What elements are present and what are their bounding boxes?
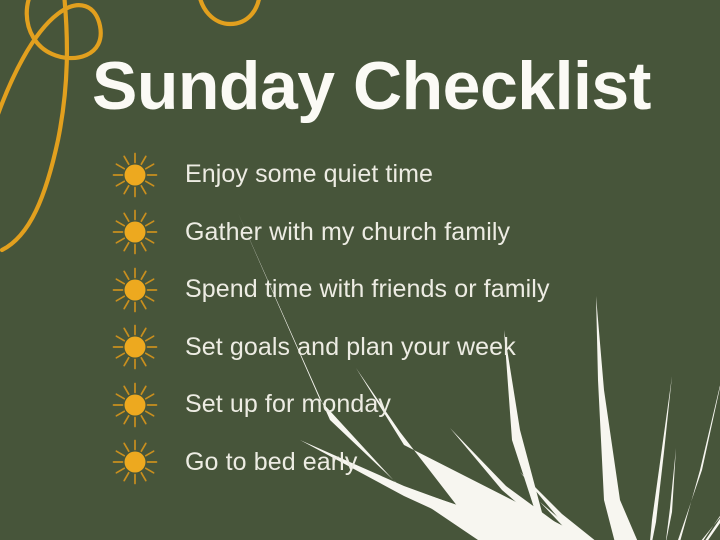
checklist: Enjoy some quiet time bbox=[108, 146, 550, 491]
sun-icon bbox=[108, 378, 162, 432]
sun-icon bbox=[108, 320, 162, 374]
slide-canvas: Sunday Checklist bbox=[0, 0, 720, 540]
list-item[interactable]: Set up for monday bbox=[108, 376, 550, 434]
sun-icon bbox=[108, 263, 162, 317]
sun-icon bbox=[108, 148, 162, 202]
list-item-label: Gather with my church family bbox=[185, 218, 510, 247]
list-item-label: Go to bed early bbox=[185, 448, 357, 477]
list-item[interactable]: Go to bed early bbox=[108, 434, 550, 492]
sun-icon bbox=[108, 435, 162, 489]
list-item-label: Spend time with friends or family bbox=[185, 275, 550, 304]
list-item-label: Enjoy some quiet time bbox=[185, 160, 433, 189]
page-title: Sunday Checklist bbox=[92, 52, 651, 120]
list-item-label: Set up for monday bbox=[185, 390, 391, 419]
list-item-label: Set goals and plan your week bbox=[185, 333, 516, 362]
list-item[interactable]: Enjoy some quiet time bbox=[108, 146, 550, 204]
list-item[interactable]: Spend time with friends or family bbox=[108, 261, 550, 319]
list-item[interactable]: Set goals and plan your week bbox=[108, 319, 550, 377]
list-item[interactable]: Gather with my church family bbox=[108, 204, 550, 262]
sun-icon bbox=[108, 205, 162, 259]
